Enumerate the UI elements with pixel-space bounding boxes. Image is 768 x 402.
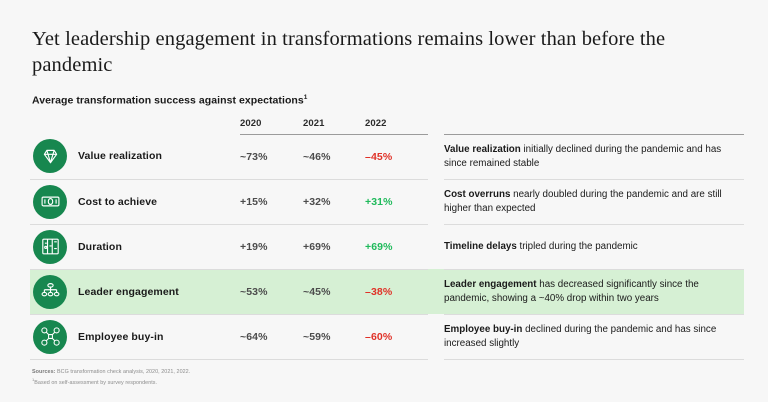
value-2022: –45% xyxy=(365,134,428,179)
row-description-lead: Value realization xyxy=(444,144,521,155)
value-2021: ~46% xyxy=(303,134,365,179)
header-gap-spacer xyxy=(428,118,444,135)
row-description: Leader engagement has decreased signific… xyxy=(444,269,744,314)
value-2022: –60% xyxy=(365,314,428,359)
value-2022: –38% xyxy=(365,269,428,314)
value-2021: +32% xyxy=(303,179,365,224)
page-title: Yet leadership engagement in transformat… xyxy=(32,26,692,78)
subtitle-footnote-marker: 1 xyxy=(304,94,308,101)
row-icon-cell xyxy=(30,179,78,224)
table-header: 2020 2021 2022 xyxy=(30,118,744,135)
people-network-icon xyxy=(33,320,67,354)
row-label: Cost to achieve xyxy=(78,179,240,224)
row-description: Timeline delays tripled during the pande… xyxy=(444,224,744,269)
footnote-line: 1Based on self-assessment by survey resp… xyxy=(32,376,740,387)
row-icon-cell xyxy=(30,269,78,314)
row-description-lead: Timeline delays xyxy=(444,241,517,252)
row-gap xyxy=(428,179,444,224)
chart-subtitle-text: Average transformation success against e… xyxy=(32,95,304,107)
table-row[interactable]: Leader engagement~53%~45%–38%Leader enga… xyxy=(30,269,744,314)
table-body: Value realization~73%~46%–45%Value reali… xyxy=(30,134,744,359)
row-icon-cell xyxy=(30,134,78,179)
table-row[interactable]: Value realization~73%~46%–45%Value reali… xyxy=(30,134,744,179)
row-description: Value realization initially declined dur… xyxy=(444,134,744,179)
banknote-icon xyxy=(33,185,67,219)
metrics-table: 2020 2021 2022 Value realization~73%~46%… xyxy=(30,118,744,360)
sources-footnote: Sources: BCG transformation check analys… xyxy=(32,369,740,388)
value-2021: +69% xyxy=(303,224,365,269)
row-gap xyxy=(428,314,444,359)
row-description-lead: Leader engagement xyxy=(444,279,537,290)
table-row[interactable]: Employee buy-in~64%~59%–60%Employee buy-… xyxy=(30,314,744,359)
row-gap xyxy=(428,269,444,314)
row-label: Value realization xyxy=(78,134,240,179)
row-icon-cell xyxy=(30,314,78,359)
header-icon-spacer xyxy=(30,118,78,135)
row-gap xyxy=(428,224,444,269)
table-row[interactable]: Duration+19%+69%+69%Timeline delays trip… xyxy=(30,224,744,269)
column-header-2021: 2021 xyxy=(303,118,365,135)
slide-root: Yet leadership engagement in transformat… xyxy=(0,0,768,402)
column-header-2020: 2020 xyxy=(240,118,303,135)
value-2020: +19% xyxy=(240,224,303,269)
row-description-lead: Cost overruns xyxy=(444,189,510,200)
chart-subtitle: Average transformation success against e… xyxy=(32,94,740,107)
row-label: Employee buy-in xyxy=(78,314,240,359)
row-description: Employee buy-in declined during the pand… xyxy=(444,314,744,359)
header-description-rule xyxy=(444,118,744,135)
column-header-2022: 2022 xyxy=(365,118,428,135)
org-chart-icon xyxy=(33,275,67,309)
value-2020: ~64% xyxy=(240,314,303,359)
row-label: Leader engagement xyxy=(78,269,240,314)
footnote-text: Based on self-assessment by survey respo… xyxy=(34,380,157,386)
sources-label: Sources: xyxy=(32,369,55,375)
row-label: Duration xyxy=(78,224,240,269)
row-description-lead: Employee buy-in xyxy=(444,324,522,335)
value-2020: +15% xyxy=(240,179,303,224)
row-description-rest: tripled during the pandemic xyxy=(517,241,638,252)
sources-text: BCG transformation check analysis, 2020,… xyxy=(55,369,190,375)
gantt-chart-icon xyxy=(33,230,67,264)
row-gap xyxy=(428,134,444,179)
value-2022: +69% xyxy=(365,224,428,269)
row-description: Cost overruns nearly doubled during the … xyxy=(444,179,744,224)
row-icon-cell xyxy=(30,224,78,269)
value-2020: ~53% xyxy=(240,269,303,314)
value-2021: ~59% xyxy=(303,314,365,359)
diamond-icon xyxy=(33,139,67,173)
value-2021: ~45% xyxy=(303,269,365,314)
value-2020: ~73% xyxy=(240,134,303,179)
value-2022: +31% xyxy=(365,179,428,224)
header-label-spacer xyxy=(78,118,240,135)
sources-line: Sources: BCG transformation check analys… xyxy=(32,369,740,376)
table-row[interactable]: Cost to achieve+15%+32%+31%Cost overruns… xyxy=(30,179,744,224)
